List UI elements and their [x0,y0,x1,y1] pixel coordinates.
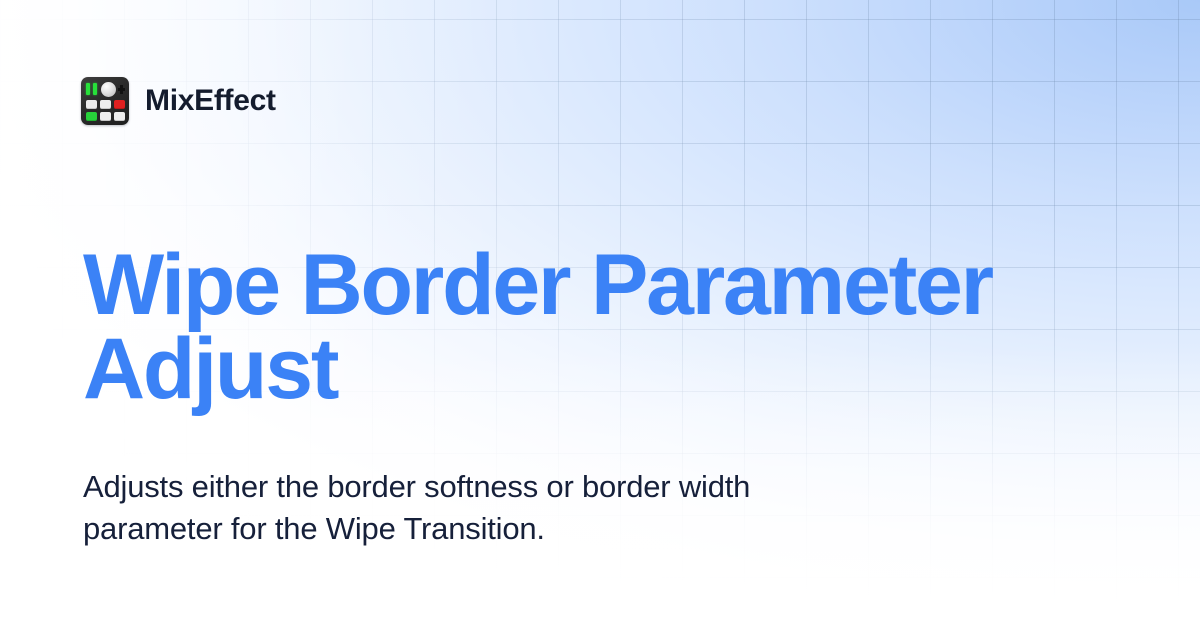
brand-lockup: MixEffect [81,77,276,125]
knob-icon [101,82,116,97]
mixeffect-control-panel-icon [81,77,129,125]
brand-name: MixEffect [145,86,276,116]
icon-key-6 [114,112,125,121]
fader-bar-right-icon [93,83,97,95]
og-card: MixEffect Wipe Border Parameter Adjust A… [0,0,1200,630]
icon-key-1 [86,100,97,109]
content-area: MixEffect Wipe Border Parameter Adjust A… [0,0,1200,630]
icon-key-2 [100,100,111,109]
page-description: Adjusts either the border softness or bo… [83,466,803,550]
page-title: Wipe Border Parameter Adjust [83,243,1093,412]
t-bar-icon [118,88,125,91]
icon-top-row [85,82,125,97]
icon-key-5 [100,112,111,121]
icon-button-grid [86,100,125,121]
fader-bar-left-icon [86,83,90,95]
icon-key-4-preview [86,112,97,121]
icon-key-3-program [114,100,125,109]
